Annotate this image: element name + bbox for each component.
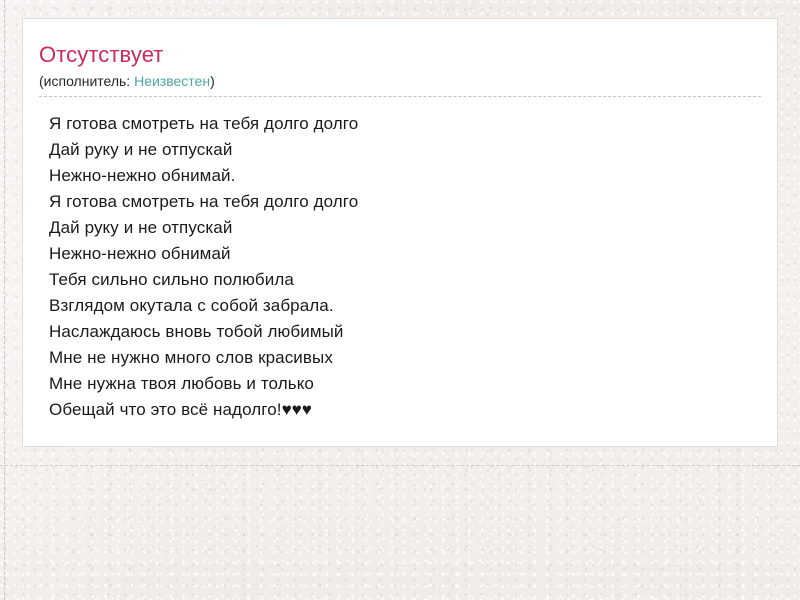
lyric-line: Мне не нужно много слов красивых — [49, 345, 759, 371]
song-title: Отсутствует — [39, 41, 759, 69]
lyric-line-final-text: Обещай что это всё надолго! — [49, 400, 282, 419]
lyric-line: Взглядом окутала с собой забрала. — [49, 293, 759, 319]
lyric-line: Тебя сильно сильно полюбила — [49, 267, 759, 293]
artist-line: (исполнитель: Неизвестен) — [39, 71, 759, 96]
lyric-line: Нежно-нежно обнимай. — [49, 163, 759, 189]
artist-link[interactable]: Неизвестен — [134, 73, 210, 89]
lyric-line: Я готова смотреть на тебя долго долго — [49, 189, 759, 215]
card-header: Отсутствует (исполнитель: Неизвестен) — [39, 41, 759, 96]
heart-icons: ♥♥♥ — [282, 400, 312, 419]
lyric-line-final: Обещай что это всё надолго!♥♥♥ — [49, 397, 759, 423]
lyric-line: Наслаждаюсь вновь тобой любимый — [49, 319, 759, 345]
lyric-line: Дай руку и не отпускай — [49, 215, 759, 241]
lyrics-list: Я готова смотреть на тебя долго долго Да… — [39, 97, 759, 423]
artist-suffix-text: ) — [210, 73, 215, 89]
lyric-line: Нежно-нежно обнимай — [49, 241, 759, 267]
lyric-line: Дай руку и не отпускай — [49, 137, 759, 163]
lyric-line: Я готова смотреть на тебя долго долго — [49, 111, 759, 137]
guide-line-bottom — [0, 465, 800, 466]
lyrics-card: Отсутствует (исполнитель: Неизвестен) Я … — [22, 18, 778, 447]
artist-prefix-text: (исполнитель: — [39, 73, 134, 89]
card-content: Отсутствует (исполнитель: Неизвестен) Я … — [23, 19, 777, 423]
lyric-line: Мне нужна твоя любовь и только — [49, 371, 759, 397]
guide-line-left — [4, 0, 5, 600]
